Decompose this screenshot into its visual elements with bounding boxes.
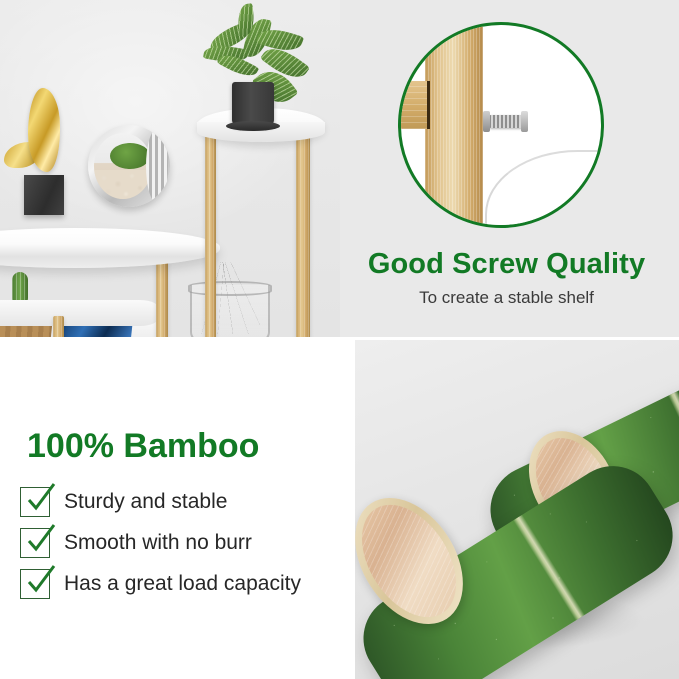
checkbox-checked-icon	[20, 528, 50, 558]
feature-list: Sturdy and stable Smooth with no burr Ha…	[20, 482, 350, 605]
magnified-detail-circle	[398, 22, 604, 228]
plant-pot	[232, 82, 274, 126]
decorative-mirror-vase	[88, 125, 170, 207]
infographic-page: Good Screw Quality To create a stable sh…	[0, 0, 679, 679]
pot-saucer	[226, 121, 280, 131]
stand-leg	[296, 126, 310, 337]
checkbox-checked-icon	[20, 569, 50, 599]
screw-tail	[521, 111, 528, 132]
bamboo-heading: 100% Bamboo	[27, 427, 259, 466]
sculpture-base	[24, 175, 64, 215]
white-pebbles	[94, 170, 152, 199]
checkbox-checked-icon	[20, 487, 50, 517]
feature-label: Smooth with no burr	[64, 531, 252, 555]
moss-ball	[110, 143, 150, 169]
bamboo-shelf-edge	[398, 81, 430, 129]
bamboo-culms-photo	[355, 340, 679, 679]
feature-item: Has a great load capacity	[20, 564, 350, 603]
feature-item: Sturdy and stable	[20, 482, 350, 521]
stand-bottom-shelf	[0, 300, 160, 326]
screw-head	[483, 111, 490, 132]
stand-leg	[53, 316, 64, 337]
chrome-ring	[146, 129, 168, 203]
feature-label: Sturdy and stable	[64, 490, 227, 514]
bamboo-post	[425, 22, 483, 228]
glass-vase-rim	[188, 281, 272, 296]
vase-interior	[94, 133, 152, 199]
white-shelf-surface	[485, 150, 604, 228]
screw-quality-subtitle: To create a stable shelf	[339, 288, 674, 308]
feature-item: Smooth with no burr	[20, 523, 350, 562]
feature-label: Has a great load capacity	[64, 572, 301, 596]
barrel-screw	[489, 115, 523, 128]
gold-face-sculpture	[28, 88, 60, 172]
screw-quality-title: Good Screw Quality	[339, 248, 674, 281]
stand-leg	[205, 120, 216, 337]
product-photo	[0, 0, 340, 337]
